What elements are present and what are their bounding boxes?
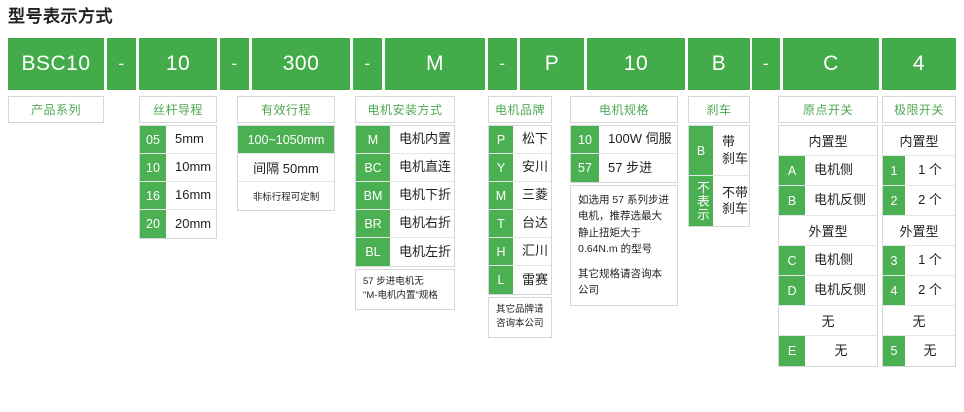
option-description: 电机下折	[390, 182, 454, 209]
note-line: 咨询本公司	[496, 317, 544, 331]
option-code: BR	[356, 210, 390, 237]
option-description: 电机反侧	[805, 276, 877, 305]
option-code: 10	[140, 154, 166, 181]
option-code: M	[489, 182, 513, 209]
spec-table: 内置型A电机侧B电机反侧外置型C电机侧D电机反侧无E无	[778, 125, 878, 367]
option-code: A	[779, 156, 805, 185]
desc-line-2: 刹车	[722, 201, 748, 217]
option-code: BL	[356, 238, 390, 266]
column-header: 丝杆导程	[139, 96, 217, 123]
spec-row: 5757 步进	[571, 154, 677, 182]
option-code: 不表示	[689, 176, 713, 226]
option-code: C	[779, 246, 805, 275]
option-description: 电机左折	[390, 238, 454, 266]
option-description: 雷赛	[513, 266, 551, 294]
option-code: 57	[571, 154, 599, 182]
option-description: 汇川	[513, 238, 551, 265]
switch-group-label: 内置型	[883, 126, 955, 156]
column-product-series: 产品系列	[8, 96, 104, 123]
option-description: 安川	[513, 154, 551, 181]
spec-row: 1010mm	[140, 154, 216, 182]
column-screw-lead: 丝杆导程 055mm1010mm1616mm2020mm	[139, 96, 217, 239]
option-description: 20mm	[166, 210, 216, 238]
option-code: E	[779, 336, 805, 366]
model-code-strip: BSC10-10-300-M-P10B-C4	[0, 38, 964, 90]
code-separator: -	[353, 38, 382, 90]
option-code: L	[489, 266, 513, 294]
option-code: 4	[883, 276, 905, 305]
option-description: 台达	[513, 210, 551, 237]
option-description: 不带刹车	[713, 176, 749, 226]
option-description: 5mm	[166, 126, 216, 153]
switch-group-label: 无	[779, 306, 877, 336]
spec-row: 11 个	[883, 156, 955, 186]
option-description: 57 步进	[599, 154, 677, 182]
option-description: 无	[805, 336, 877, 366]
option-description: 10mm	[166, 154, 216, 181]
option-description: 2 个	[905, 276, 955, 305]
column-brake: 刹车 B带刹车不表示不带刹车	[688, 96, 750, 227]
spec-row: Y安川	[489, 154, 551, 182]
spec-row: M三菱	[489, 182, 551, 210]
page-title: 型号表示方式	[8, 2, 113, 27]
spec-table: 10100W 伺服5757 步进	[570, 125, 678, 183]
motor-brand-note: 其它品牌请咨询本公司	[488, 297, 552, 338]
column-origin-switch: 原点开关 内置型A电机侧B电机反侧外置型C电机侧D电机反侧无E无	[778, 96, 878, 367]
spec-row: 2020mm	[140, 210, 216, 238]
option-description: 电机直连	[390, 154, 454, 181]
spec-table: M电机内置BC电机直连BM电机下折BR电机右折BL电机左折	[355, 125, 455, 267]
spec-row: 不表示不带刹车	[689, 176, 749, 226]
spec-row: H汇川	[489, 238, 551, 266]
option-code: 3	[883, 246, 905, 275]
option-code: B	[689, 126, 713, 175]
spec-table: P松下Y安川M三菱T台达H汇川L雷赛	[488, 125, 552, 295]
option-code: 2	[883, 186, 905, 215]
option-description: 电机内置	[390, 126, 454, 153]
desc-line-1: 带	[722, 134, 735, 150]
option-description: 松下	[513, 126, 551, 153]
note-line: 其它品牌请	[496, 303, 544, 317]
spec-table: 100~1050mm间隔 50mm非标行程可定制	[237, 125, 335, 211]
spec-row: L雷赛	[489, 266, 551, 294]
option-code: 5	[883, 336, 905, 366]
option-description: 电机反侧	[805, 186, 877, 215]
code-separator: -	[220, 38, 249, 90]
spec-row: B电机反侧	[779, 186, 877, 216]
spec-row: 31 个	[883, 246, 955, 276]
spec-row: BM电机下折	[356, 182, 454, 210]
option-description: 2 个	[905, 186, 955, 215]
spec-row: 10100W 伺服	[571, 126, 677, 154]
desc-line-1: 不带	[722, 185, 748, 201]
option-description: 16mm	[166, 182, 216, 209]
code-segment: M	[385, 38, 485, 90]
column-header: 产品系列	[8, 96, 104, 123]
switch-group-label: 外置型	[883, 216, 955, 246]
option-code: H	[489, 238, 513, 265]
code-segment: P	[520, 38, 584, 90]
spec-row: BR电机右折	[356, 210, 454, 238]
option-description: 带刹车	[713, 126, 749, 175]
option-code: BC	[356, 154, 390, 181]
motor-spec-note-line-2: 其它规格请咨询本公司	[578, 266, 670, 299]
spec-row: B带刹车	[689, 126, 749, 176]
option-description: 三菱	[513, 182, 551, 209]
column-limit-switch: 极限开关 内置型11 个22 个外置型31 个42 个无5无	[882, 96, 956, 367]
stroke-range: 100~1050mm	[238, 126, 334, 154]
option-description: 电机右折	[390, 210, 454, 237]
spec-row: 5无	[883, 336, 955, 366]
option-description: 100W 伺服	[599, 126, 677, 153]
note-line: 57 步进电机无	[363, 275, 447, 289]
spec-row: BC电机直连	[356, 154, 454, 182]
column-header: 电机安装方式	[355, 96, 455, 123]
column-header: 极限开关	[882, 96, 956, 123]
code-segment: 10	[139, 38, 217, 90]
option-code: 16	[140, 182, 166, 209]
spec-row: D电机反侧	[779, 276, 877, 306]
spec-row: M电机内置	[356, 126, 454, 154]
code-separator: -	[488, 38, 517, 90]
column-header: 刹车	[688, 96, 750, 123]
spec-row: 42 个	[883, 276, 955, 306]
spec-row: BL电机左折	[356, 238, 454, 266]
option-code: B	[779, 186, 805, 215]
option-description: 1 个	[905, 246, 955, 275]
option-code: M	[356, 126, 390, 153]
motor-mount-note: 57 步进电机无"M-电机内置"规格	[355, 269, 455, 310]
model-code-diagram: 型号表示方式 BSC10-10-300-M-P10B-C4 产品系列 丝杆导程 …	[0, 0, 964, 412]
option-code: 05	[140, 126, 166, 153]
code-segment: 300	[252, 38, 350, 90]
spec-row: P松下	[489, 126, 551, 154]
column-header: 电机规格	[570, 96, 678, 123]
code-segment: 4	[882, 38, 956, 90]
option-code: D	[779, 276, 805, 305]
column-effective-stroke: 有效行程 100~1050mm间隔 50mm非标行程可定制	[237, 96, 335, 211]
column-motor-spec: 电机规格 10100W 伺服5757 步进 如选用 57 系列步进电机，推荐选最…	[570, 96, 678, 306]
option-code: BM	[356, 182, 390, 209]
code-separator: -	[752, 38, 780, 90]
option-code: 20	[140, 210, 166, 238]
code-separator: -	[107, 38, 136, 90]
spec-row: 055mm	[140, 126, 216, 154]
stroke-note: 非标行程可定制	[238, 182, 334, 210]
note-line: "M-电机内置"规格	[363, 289, 447, 303]
stroke-interval: 间隔 50mm	[238, 154, 334, 182]
spec-table: 055mm1010mm1616mm2020mm	[139, 125, 217, 239]
spec-row: E无	[779, 336, 877, 366]
code-segment: BSC10	[8, 38, 104, 90]
desc-line-2: 刹车	[722, 151, 748, 167]
column-motor-brand: 电机品牌 P松下Y安川M三菱T台达H汇川L雷赛 其它品牌请咨询本公司	[488, 96, 552, 338]
spec-table: B带刹车不表示不带刹车	[688, 125, 750, 227]
option-code: 1	[883, 156, 905, 185]
spec-row: T台达	[489, 210, 551, 238]
code-segment: 10	[587, 38, 685, 90]
column-motor-mount: 电机安装方式 M电机内置BC电机直连BM电机下折BR电机右折BL电机左折 57 …	[355, 96, 455, 310]
spec-row: 22 个	[883, 186, 955, 216]
code-segment: C	[783, 38, 879, 90]
switch-group-label: 外置型	[779, 216, 877, 246]
option-description: 电机侧	[805, 246, 877, 275]
column-header: 原点开关	[778, 96, 878, 123]
switch-group-label: 无	[883, 306, 955, 336]
spec-row: A电机侧	[779, 156, 877, 186]
spec-row: 1616mm	[140, 182, 216, 210]
option-code: Y	[489, 154, 513, 181]
switch-group-label: 内置型	[779, 126, 877, 156]
option-description: 电机侧	[805, 156, 877, 185]
code-segment: B	[688, 38, 750, 90]
spec-row: C电机侧	[779, 246, 877, 276]
option-description: 1 个	[905, 156, 955, 185]
motor-spec-note: 如选用 57 系列步进电机，推荐选最大静止扭矩大于0.64N.m 的型号 其它规…	[570, 185, 678, 306]
motor-spec-note-line-1: 如选用 57 系列步进电机，推荐选最大静止扭矩大于0.64N.m 的型号	[578, 192, 670, 257]
option-code: 10	[571, 126, 599, 153]
column-header: 有效行程	[237, 96, 335, 123]
option-description: 无	[905, 336, 955, 366]
spec-table: 内置型11 个22 个外置型31 个42 个无5无	[882, 125, 956, 367]
option-code: P	[489, 126, 513, 153]
option-code: T	[489, 210, 513, 237]
column-header: 电机品牌	[488, 96, 552, 123]
